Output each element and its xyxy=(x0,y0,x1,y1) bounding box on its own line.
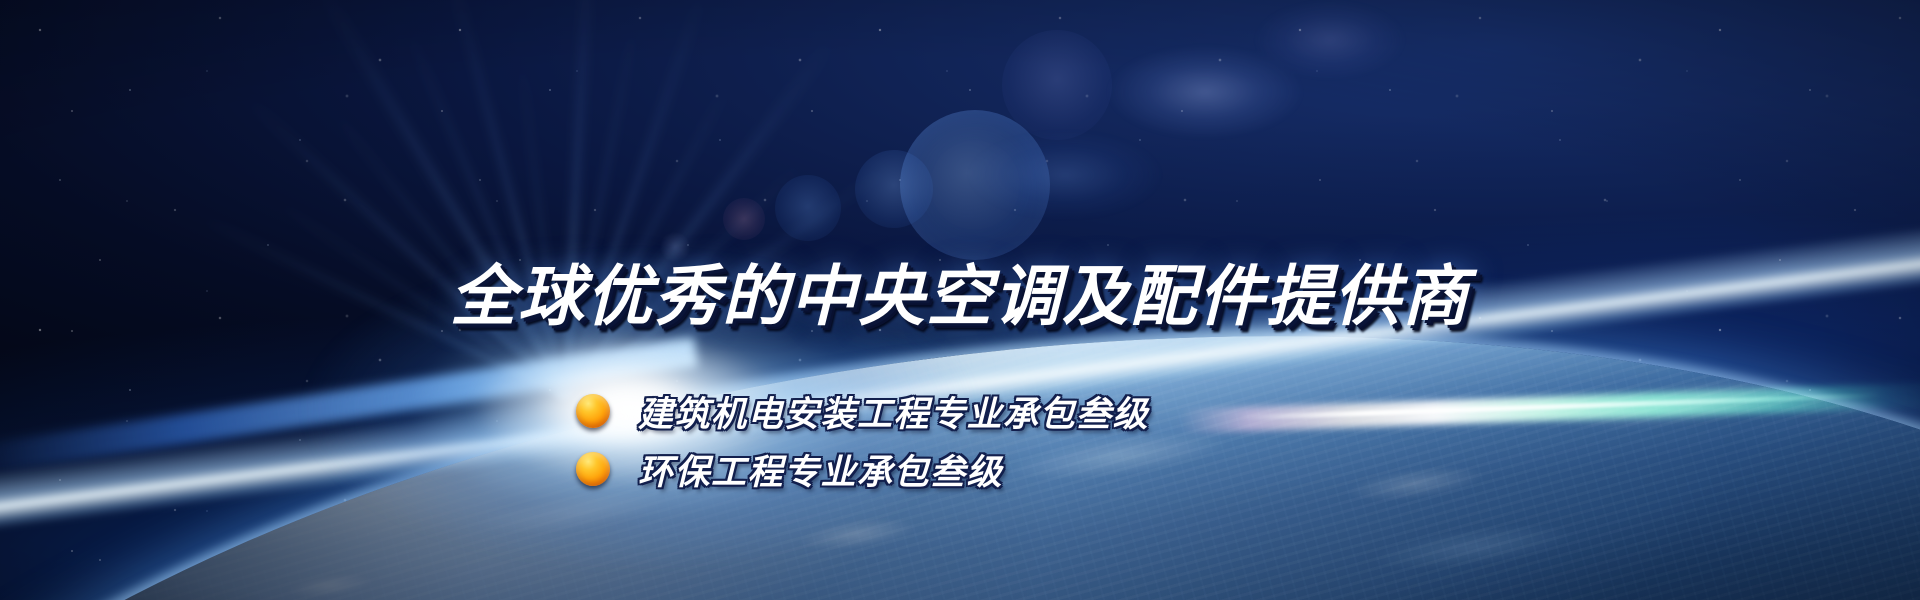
orange-dot-bullet-icon xyxy=(576,452,610,486)
bullet-label: 建筑机电安装工程专业承包叁级 xyxy=(638,386,1149,437)
orange-dot-bullet-icon xyxy=(576,394,610,428)
list-item: 环保工程专业承包叁级 xyxy=(0,440,1920,498)
list-item: 建筑机电安装工程专业承包叁级 xyxy=(0,382,1920,440)
hero-banner: 全球优秀的中央空调及配件提供商 建筑机电安装工程专业承包叁级 环保工程专业承包叁… xyxy=(0,0,1920,600)
banner-bullet-list: 建筑机电安装工程专业承包叁级 环保工程专业承包叁级 xyxy=(0,382,1920,498)
bullet-label: 环保工程专业承包叁级 xyxy=(638,444,1003,495)
banner-content: 全球优秀的中央空调及配件提供商 建筑机电安装工程专业承包叁级 环保工程专业承包叁… xyxy=(0,0,1920,600)
banner-headline: 全球优秀的中央空调及配件提供商 xyxy=(0,243,1920,339)
